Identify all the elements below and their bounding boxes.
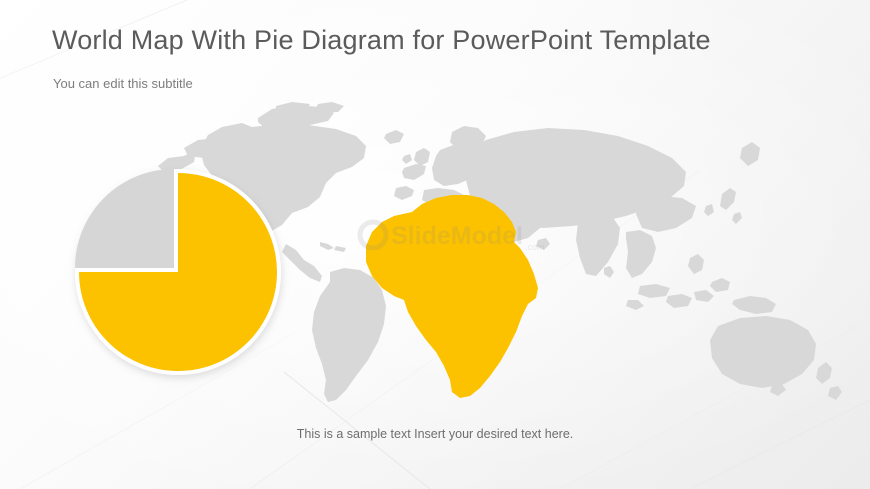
map-region-africa-highlighted[interactable]	[366, 195, 538, 398]
pie-slice-remaining[interactable]	[75, 169, 174, 268]
page-title: World Map With Pie Diagram for PowerPoin…	[52, 25, 711, 56]
pie-chart[interactable]	[58, 152, 298, 392]
page-subtitle: You can edit this subtitle	[53, 76, 193, 91]
africa-shape[interactable]	[366, 195, 538, 398]
sample-caption: This is a sample text Insert your desire…	[0, 427, 870, 441]
slide-canvas: SlideModel .com World Map With Pie Diagr…	[0, 0, 870, 489]
